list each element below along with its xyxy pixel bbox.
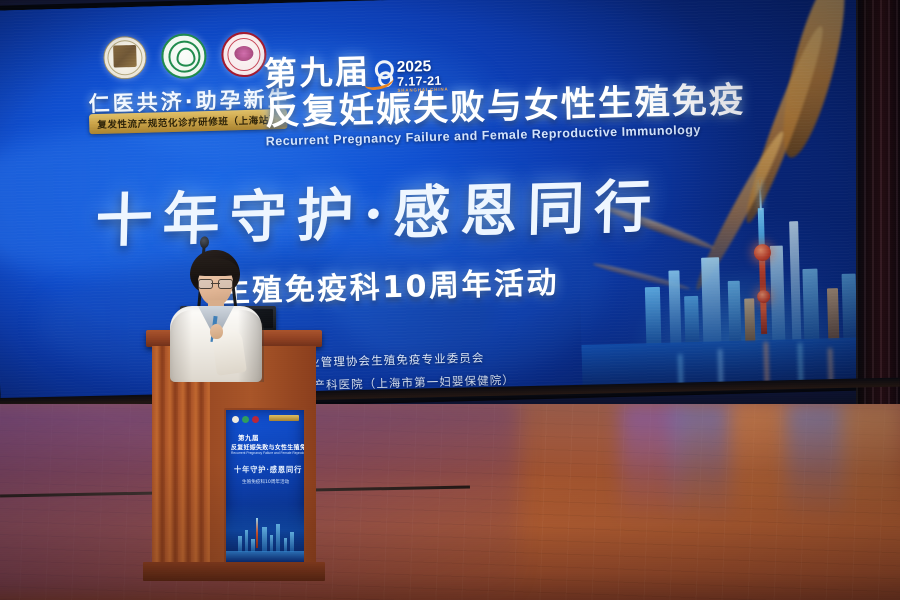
- panel-title-edition: 第九届: [238, 432, 259, 442]
- panel-pearl-tower: [256, 518, 258, 548]
- panel-title-main: 反复妊娠失败与女性生殖免疫: [231, 442, 306, 451]
- panel-logo-2: [242, 416, 249, 423]
- conference-stage-scene: 仁医共济·助孕新生 复发性流产规范化诊疗研修班（上海站） 第九届 反复妊娠失败与…: [0, 0, 900, 600]
- panel-logo-3: [252, 416, 259, 423]
- presenter-hand: [210, 324, 223, 339]
- panel-logo-1: [232, 416, 239, 423]
- banner-artwork: 仁医共济·助孕新生 复发性流产规范化诊疗研修班（上海站） 第九届 反复妊娠失败与…: [0, 0, 873, 409]
- lectern-base: [143, 562, 325, 581]
- panel-skyline-artwork: [226, 504, 304, 562]
- panel-subheadline: 生殖免疫科10周年活动: [242, 479, 289, 485]
- panel-gold-badge: [269, 415, 299, 421]
- lectern-banner-panel: 第九届 反复妊娠失败与女性生殖免疫 Recurrent Pregnancy Fa…: [224, 408, 306, 564]
- stage-floor: [0, 404, 900, 600]
- panel-headline: 十年守护·感恩同行: [234, 465, 302, 475]
- led-display-screen: 仁医共济·助孕新生 复发性流产规范化诊疗研修班（上海站） 第九届 反复妊娠失败与…: [0, 0, 877, 414]
- right-stage-curtain: [856, 0, 900, 436]
- eyeglasses: [198, 279, 233, 287]
- presenter: [168, 250, 264, 380]
- panel-title-english: Recurrent Pregnancy Failure and Female R…: [231, 451, 306, 455]
